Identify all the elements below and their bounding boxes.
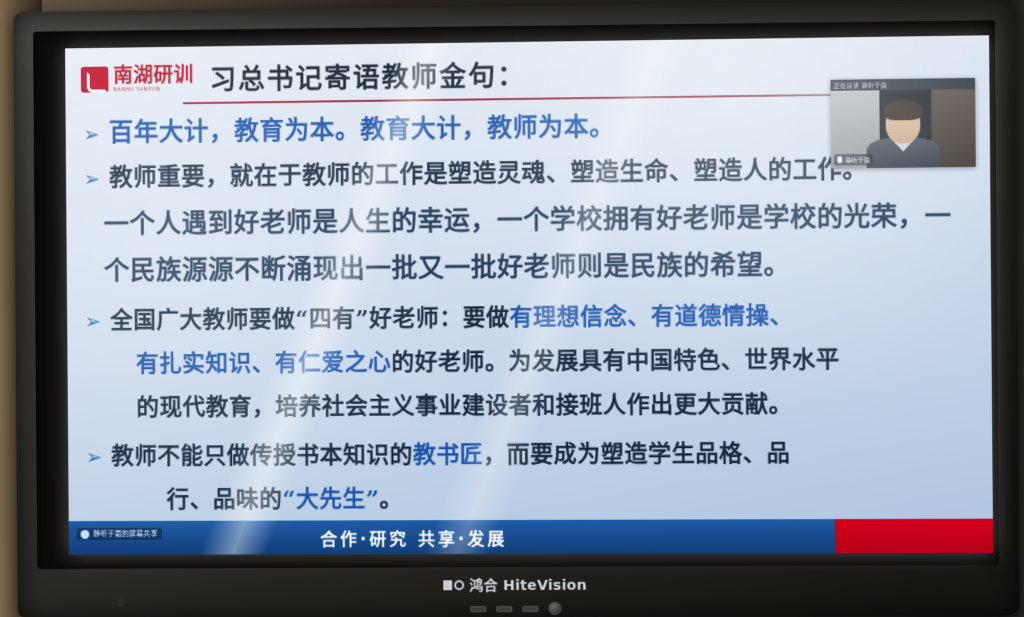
device-brand: 鸿合 HiteVision bbox=[18, 573, 1020, 597]
footer-blue-band: 静听于霜的屏幕共享 合作·研究 共享·发展 bbox=[69, 519, 835, 555]
logo-mark-icon bbox=[81, 66, 109, 92]
photo-scene: 南湖研训 NANHU YANXUN 习总书记寄语教师金句： ➢百年大计，教育为本… bbox=[0, 0, 1024, 617]
device-brand-label: 鸿合 HiteVision bbox=[469, 575, 587, 595]
slide-footer: 静听于霜的屏幕共享 合作·研究 共享·发展 bbox=[69, 519, 993, 555]
bullet-arrow-icon: ➢ bbox=[85, 309, 111, 333]
slide-title: 习总书记寄语教师金句： bbox=[209, 54, 526, 97]
speaker-video-thumbnail[interactable]: 正在演讲 静听于霜 静听于霜 bbox=[830, 78, 975, 169]
io-port bbox=[470, 606, 486, 612]
slide-text-segment: 的现代教育，培养社会主义事业建设者和接班人作出更大贡献。 bbox=[136, 384, 792, 422]
slide-line: 有扎实知识、有仁爱之心的好老师。为发展具有中国特色、世界水平 bbox=[85, 339, 977, 379]
screen-share-icon bbox=[81, 530, 90, 539]
screen-share-label: 静听于霜的屏幕共享 bbox=[93, 529, 158, 539]
slide-text-segment: 有理想信念、有道德情操、 bbox=[509, 296, 793, 332]
bullet-arrow-icon: ➢ bbox=[84, 167, 110, 191]
speaker-name-label: 静听于霜 bbox=[845, 155, 869, 164]
screen-share-notice: 静听于霜的屏幕共享 bbox=[77, 528, 162, 540]
slide-line: ➢教师不能只做传授书本知识的教书匠，而要成为塑造学生品格、品 bbox=[86, 433, 978, 471]
io-port bbox=[496, 606, 512, 612]
bullet-arrow-icon: ➢ bbox=[86, 445, 112, 469]
video-feed: 静听于霜 bbox=[831, 89, 976, 168]
slide-text-segment: 教师不能只做传授书本知识的 bbox=[111, 435, 413, 470]
video-status-label: 正在演讲 静听于霜 bbox=[834, 80, 888, 90]
slide-line: 一个人遇到好老师是人生的幸运，一个学校拥有好老师是学校的光荣，一 bbox=[78, 195, 976, 241]
slide-text-segment: 一个人遇到好老师是人生的幸运，一个学校拥有好老师是学校的光荣，一 bbox=[103, 195, 951, 240]
slide-text-segment: 。 bbox=[379, 479, 403, 513]
slide-line: ➢全国广大教师要做“四有”好老师：要做有理想信念、有道德情操、 bbox=[85, 294, 977, 335]
bullet-arrow-icon: ➢ bbox=[83, 122, 109, 146]
microphone-icon bbox=[837, 156, 842, 163]
slide-text-segment: 教书匠 bbox=[413, 435, 484, 469]
footer-red-band bbox=[835, 519, 993, 554]
slide-text-segment: 有扎实知识、有仁爱之心 bbox=[136, 343, 392, 378]
slide-text-segment: “大先生” bbox=[282, 479, 379, 513]
slide-text-segment: 的好老师。为发展具有中国特色、世界水平 bbox=[391, 340, 840, 377]
device-io-row bbox=[18, 600, 1020, 617]
slide-text-segment: 百年大计，教育为本。教育大计，教师为本。 bbox=[109, 107, 615, 149]
slide-line: 行、品味的“大先生”。 bbox=[86, 477, 978, 514]
slide-text-segment: 行、品味的 bbox=[166, 480, 282, 514]
speaker-nameplate: 静听于霜 bbox=[834, 154, 873, 166]
slide-text-segment: 全国广大教师要做“四有”好老师：要做 bbox=[110, 298, 510, 335]
slide-text-segment: ，而要成为塑造学生品格、品 bbox=[483, 434, 790, 469]
power-button[interactable] bbox=[548, 602, 561, 615]
footer-slogan: 合作·研究 共享·发展 bbox=[320, 524, 507, 549]
slide-line: 个民族源源不断涌现出一批又一批好老师则是民族的希望。 bbox=[78, 243, 976, 288]
interactive-flat-panel: 南湖研训 NANHU YANXUN 习总书记寄语教师金句： ➢百年大计，教育为本… bbox=[13, 0, 1020, 617]
logo-wordmark: 南湖研训 NANHU YANXUN bbox=[113, 64, 194, 93]
slide-text-segment: 教师重要，就在于教师的工作是塑造灵魂、塑造生命、塑造人的工作。 bbox=[109, 149, 867, 192]
logo-english-name: NANHU YANXUN bbox=[113, 87, 194, 93]
logo-chinese-name: 南湖研训 bbox=[113, 64, 194, 85]
slide-line: 的现代教育，培养社会主义事业建设者和接班人作出更大贡献。 bbox=[85, 383, 977, 422]
slide-text-segment: 个民族源源不断涌现出一批又一批好老师则是民族的希望。 bbox=[104, 244, 791, 287]
io-port bbox=[522, 605, 538, 611]
display-screen[interactable]: 南湖研训 NANHU YANXUN 习总书记寄语教师金句： ➢百年大计，教育为本… bbox=[65, 35, 993, 555]
speaker-hair bbox=[883, 100, 922, 121]
nanhu-logo: 南湖研训 NANHU YANXUN bbox=[81, 64, 194, 93]
hitevision-logo-icon bbox=[443, 580, 464, 590]
